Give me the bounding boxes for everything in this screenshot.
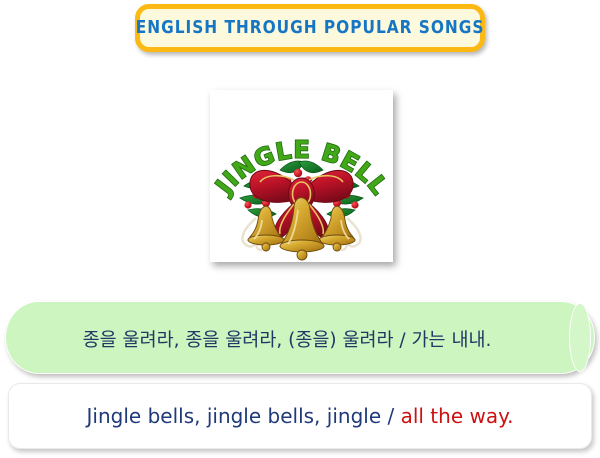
korean-lyric-scroll: 종을 울려라, 종을 울려라, (종을) 울려라 / 가는 내내. bbox=[5, 301, 595, 374]
english-lyric-navy-part: Jingle bells, jingle bells, jingle / bbox=[87, 404, 401, 428]
title-banner: ENGLISH THROUGH POPULAR SONGS bbox=[135, 4, 485, 52]
korean-lyric-text: 종을 울려라, 종을 울려라, (종을) 울려라 / 가는 내내. bbox=[6, 302, 568, 375]
english-lyric-text: Jingle bells, jingle bells, jingle / all… bbox=[87, 404, 514, 428]
english-lyric-red-part: all the way. bbox=[401, 404, 514, 428]
bells bbox=[248, 198, 355, 260]
jingle-bells-icon: JINGLE BELLS bbox=[210, 90, 393, 262]
scroll-end-cap bbox=[569, 303, 591, 372]
english-lyric-box: Jingle bells, jingle bells, jingle / all… bbox=[8, 383, 592, 449]
illustration-frame: JINGLE BELLS bbox=[210, 90, 393, 262]
page-title: ENGLISH THROUGH POPULAR SONGS bbox=[136, 18, 485, 38]
